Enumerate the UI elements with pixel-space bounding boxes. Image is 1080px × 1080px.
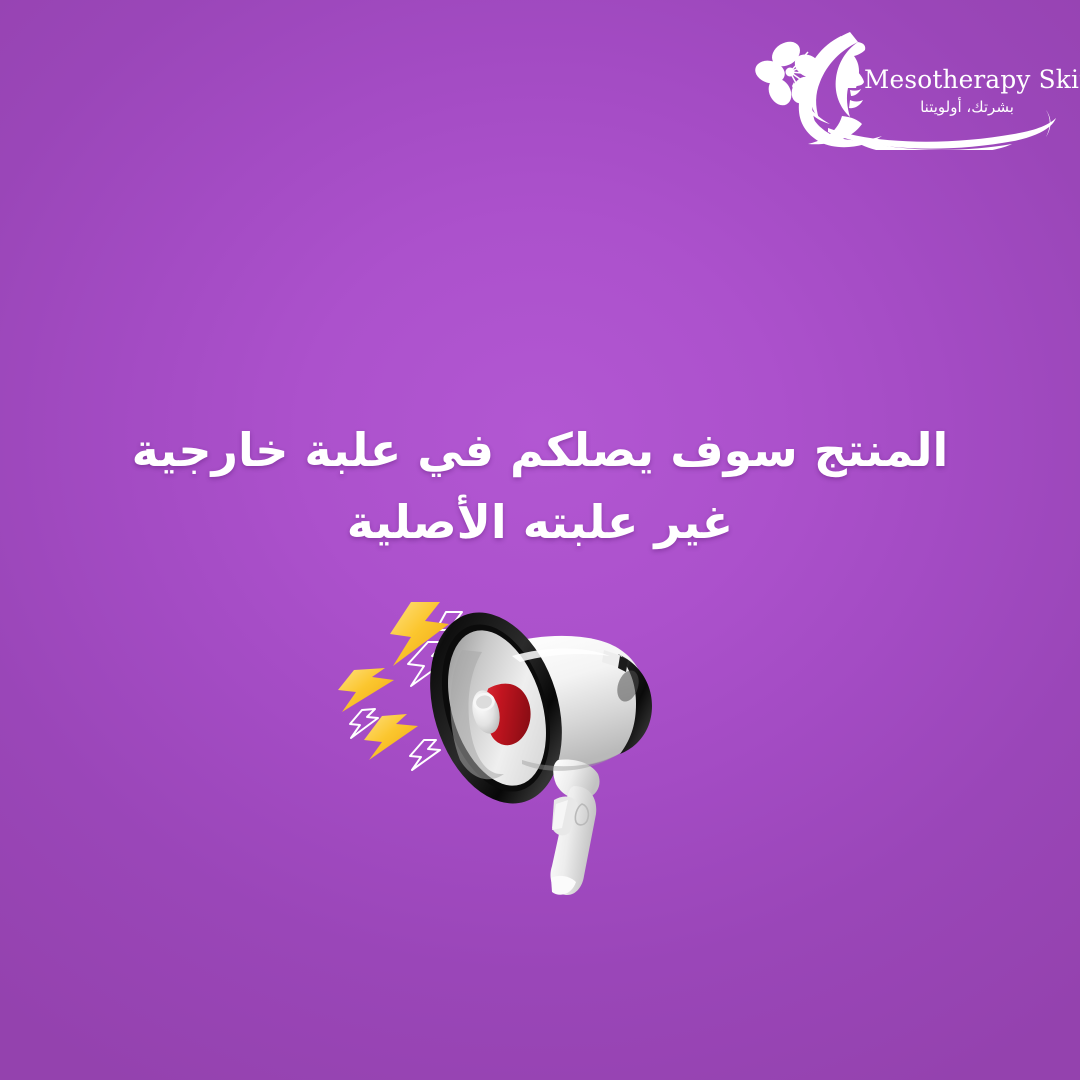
poster-canvas: Mesotherapy Skin بشرتك، أولويتنا المنتج … <box>0 0 1080 1080</box>
megaphone-handle <box>550 760 599 896</box>
logo-tagline: بشرتك، أولويتنا <box>874 100 1060 115</box>
headline-text: المنتج سوف يصلكم في علبة خارجية غير علبت… <box>0 414 1080 558</box>
logo-swoosh-flourish <box>828 110 1056 150</box>
headline-line-1: المنتج سوف يصلكم في علبة خارجية <box>0 414 1080 486</box>
headline-line-2: غير علبته الأصلية <box>0 486 1080 558</box>
megaphone-illustration <box>336 588 736 918</box>
logo-brand-name: Mesotherapy Skin <box>864 68 1054 94</box>
brand-logo[interactable]: Mesotherapy Skin بشرتك، أولويتنا <box>746 24 1058 150</box>
